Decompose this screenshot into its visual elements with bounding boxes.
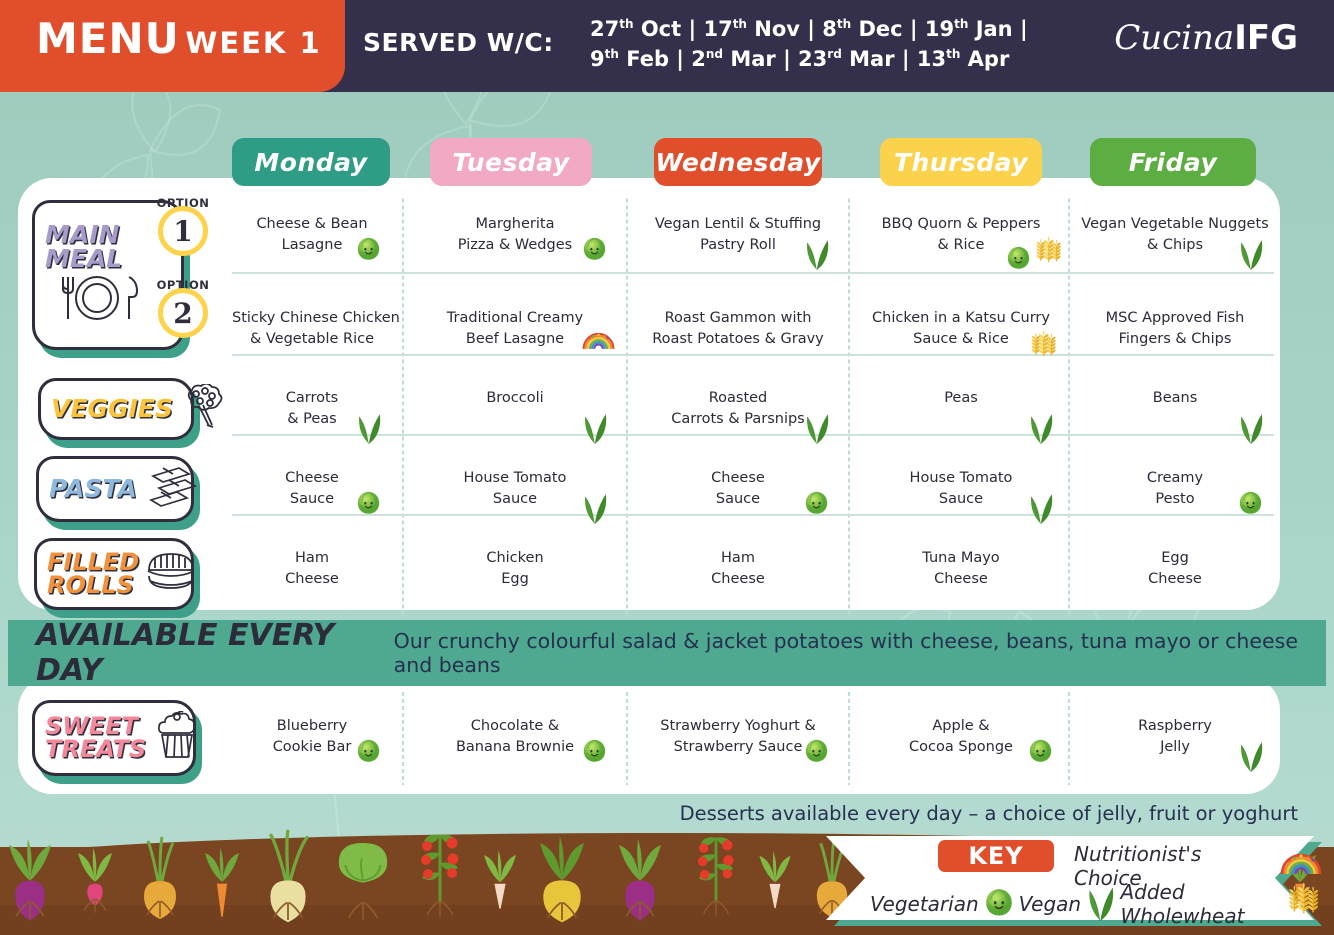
diet-icon-group [1238, 410, 1264, 448]
nutritionist-choice-rainbow-icon [1280, 850, 1322, 882]
vegetarian-cabbage-icon [1006, 245, 1031, 274]
option-number: 2 [158, 288, 208, 338]
bread-roll-icon [145, 550, 197, 598]
diet-icon-group [1028, 490, 1054, 528]
diet-icon-group [1238, 490, 1263, 519]
garden-plant [270, 830, 307, 922]
menu-item-text: Sticky Chinese Chicken [232, 308, 392, 329]
column-separator [626, 690, 628, 785]
menu-item-text: & Vegetable Rice [232, 329, 392, 350]
column-separator [848, 690, 850, 785]
day-header-friday: Friday [1090, 138, 1256, 186]
diet-icon-group [582, 236, 607, 265]
wholewheat-wheat-icon [1033, 236, 1064, 274]
pasta-icon [143, 464, 205, 514]
menu-item-text: House Tomato [858, 468, 1064, 489]
vegetarian-cabbage-icon [356, 236, 381, 265]
desserts-note: Desserts available every day – a choice … [680, 802, 1298, 825]
menu-cell-filled-rolls-wednesday: HamCheese [636, 548, 840, 589]
menu-item-text: Cheese [636, 569, 840, 590]
diet-icon-group [356, 490, 381, 519]
menu-item-text: Chicken [412, 548, 618, 569]
category-pill: VEGGIES [38, 378, 194, 440]
brand-name-bold: IFG [1234, 18, 1298, 58]
menu-item-text: Margherita [412, 214, 618, 235]
option-badge-1: OPTION1 [152, 196, 214, 258]
diet-icon-group [582, 410, 608, 448]
diet-icon-group [1238, 738, 1264, 776]
menu-cell-main-meal-option-2-wednesday: Roast Gammon withRoast Potatoes & Gravy [636, 308, 840, 349]
menu-cell-filled-rolls-tuesday: ChickenEgg [412, 548, 618, 589]
menu-item-text: Cheese [232, 468, 392, 489]
menu-item-text: Egg [1076, 548, 1274, 569]
menu-item-text: Traditional Creamy [412, 308, 618, 329]
vegan-leaf-icon [804, 410, 830, 448]
menu-item-text: Cheese & Bean [232, 214, 392, 235]
column-separator [402, 690, 404, 785]
menu-item-text: Blueberry [232, 716, 392, 737]
vegetarian-cabbage-icon [356, 490, 381, 519]
row-separator [232, 354, 1274, 356]
category-label: PASTA [49, 477, 137, 501]
served-dates-line-2: 9th Feb | 2nd Mar | 23rd Mar | 13th Apr [590, 44, 1030, 74]
option-number: 1 [158, 206, 208, 256]
diet-icon-group [804, 738, 829, 767]
menu-item-text: Broccoli [412, 388, 618, 409]
category-sweet-treats[interactable]: SWEETTREATS [32, 700, 196, 776]
vegetarian-cabbage-icon [1028, 738, 1053, 767]
column-separator [626, 196, 628, 614]
wholewheat-wheat-icon [1285, 882, 1323, 927]
week-word: WEEK 1 [185, 26, 321, 60]
menu-item-text: Cheese [1076, 569, 1274, 590]
day-header-label: Thursday [894, 148, 1028, 177]
vegetarian-cabbage-icon [582, 738, 607, 767]
key-label-vegan: Vegan [1019, 892, 1081, 916]
day-header-tuesday: Tuesday [430, 138, 592, 186]
garden-plant [698, 837, 734, 915]
menu-cell-filled-rolls-friday: EggCheese [1076, 548, 1274, 589]
category-pill: PASTA [36, 456, 194, 522]
garden-plant [339, 843, 387, 920]
menu-item-text: Roasted [636, 388, 840, 409]
band-title: AVAILABLE EVERY DAY [36, 618, 380, 688]
day-header-label: Monday [254, 148, 367, 177]
menu-item-text: Raspberry [1076, 716, 1274, 737]
category-label: MAINMEAL [45, 223, 122, 272]
diet-icon-group [1006, 236, 1064, 274]
vegan-leaf-icon [1028, 410, 1054, 448]
garden-plant [759, 851, 790, 908]
menu-item-text: Peas [858, 388, 1064, 409]
day-header-row: MondayTuesdayWednesdayThursdayFriday [0, 138, 1334, 186]
diet-icon-group [804, 410, 830, 448]
key-legend: KEY Nutritionist's Choice Vegetarian Veg… [826, 836, 1322, 926]
menu-cell-filled-rolls-monday: HamCheese [232, 548, 392, 589]
served-label: SERVED W/C: [363, 28, 554, 57]
row-separator [232, 514, 1274, 516]
garden-plant [205, 848, 239, 917]
diet-icon-group [804, 490, 829, 519]
menu-cell-veggies-friday: Beans [1076, 388, 1274, 409]
garden-plant [421, 835, 459, 917]
key-row-diet: Vegetarian Vegan Added Wholewheat [870, 880, 1322, 928]
menu-item-text: Tuna Mayo [858, 548, 1064, 569]
key-badge: KEY [938, 840, 1054, 872]
menu-title-block: MENU WEEK 1 [36, 14, 322, 63]
menu-item-text: Vegan Vegetable Nuggets [1076, 214, 1274, 235]
garden-plant [144, 837, 176, 919]
served-dates: 27th Oct | 17th Nov | 8th Dec | 19th Jan… [590, 14, 1030, 75]
menu-item-text: Ham [636, 548, 840, 569]
category-pill: SWEETTREATS [32, 700, 196, 776]
menu-cell-veggies-tuesday: Broccoli [412, 388, 618, 409]
diet-icon-group [356, 236, 381, 265]
option-badge-2: OPTION2 [152, 278, 214, 340]
day-header-label: Tuesday [452, 148, 569, 177]
menu-cell-main-meal-option-2-friday: MSC Approved FishFingers & Chips [1076, 308, 1274, 349]
vegan-leaf-icon [356, 410, 382, 448]
brand-name-italic: Cucina [1114, 18, 1234, 58]
menu-item-text: House Tomato [412, 468, 618, 489]
diet-icon-group [1028, 738, 1053, 767]
diet-icon-group [582, 738, 607, 767]
diet-icon-group [1238, 236, 1264, 274]
column-separator [1068, 196, 1070, 614]
row-separator [232, 272, 1274, 274]
menu-item-text: Apple & [858, 716, 1064, 737]
column-separator [848, 196, 850, 614]
key-label-wholewheat: Added Wholewheat [1120, 880, 1279, 928]
day-header-monday: Monday [232, 138, 390, 186]
diet-icon-group [356, 738, 381, 767]
menu-item-text: Beans [1076, 388, 1274, 409]
menu-item-text: Cheese [636, 468, 840, 489]
vegan-leaf-icon [1238, 236, 1264, 274]
broccoli-icon [179, 384, 225, 434]
column-separator [1068, 690, 1070, 785]
day-header-thursday: Thursday [880, 138, 1042, 186]
vegan-leaf-icon [1238, 410, 1264, 448]
vegan-leaf-icon [1086, 883, 1115, 925]
menu-cell-filled-rolls-thursday: Tuna MayoCheese [858, 548, 1064, 589]
menu-item-text: Roast Gammon with [636, 308, 840, 329]
band-text: Our crunchy colourful salad & jacket pot… [394, 629, 1326, 677]
menu-item-text: Chicken in a Katsu Curry [858, 308, 1064, 329]
vegetarian-cabbage-icon [804, 738, 829, 767]
menu-item-text: Chocolate & [412, 716, 618, 737]
vegan-leaf-icon [804, 236, 830, 274]
garden-plant [484, 850, 516, 909]
key-label-vegetarian: Vegetarian [870, 892, 979, 916]
menu-item-text: BBQ Quorn & Peppers [858, 214, 1064, 235]
menu-cell-main-meal-option-2-monday: Sticky Chinese Chicken& Vegetable Rice [232, 308, 392, 349]
menu-item-text: Ham [232, 548, 392, 569]
vegan-leaf-icon [1238, 738, 1264, 776]
nutritionist-choice-rainbow-icon [582, 330, 615, 356]
diet-icon-group [1028, 410, 1054, 448]
menu-item-text: Creamy [1076, 468, 1274, 489]
vegetarian-cabbage-icon [356, 738, 381, 767]
diet-icon-group [582, 490, 608, 528]
menu-word: MENU [36, 14, 180, 63]
menu-item-text: Cheese [858, 569, 1064, 590]
menu-item-text: Strawberry Yoghurt & [636, 716, 840, 737]
column-separator [402, 196, 404, 614]
menu-item-text: Vegan Lentil & Stuffing [636, 214, 840, 235]
garden-plant [540, 836, 584, 922]
vegetarian-cabbage-icon [582, 236, 607, 265]
brand-logo: CucinaIFG [1114, 18, 1298, 58]
menu-item-text: Roast Potatoes & Gravy [636, 329, 840, 350]
wholewheat-wheat-icon [1028, 330, 1059, 368]
category-veggies[interactable]: VEGGIES [38, 378, 194, 440]
vegan-leaf-icon [582, 410, 608, 448]
vegan-leaf-icon [582, 490, 608, 528]
day-header-label: Wednesday [655, 148, 820, 177]
category-label: VEGGIES [51, 397, 173, 421]
garden-plant [78, 848, 112, 913]
menu-item-text: Egg [412, 569, 618, 590]
vegetarian-cabbage-icon [984, 887, 1014, 921]
day-header-label: Friday [1129, 148, 1218, 177]
row-separator [232, 434, 1274, 436]
diet-icon-group [1028, 330, 1059, 368]
cutlery-plate-icon [45, 273, 149, 327]
cupcake-icon [152, 711, 202, 765]
diet-icon-group [356, 410, 382, 448]
day-header-wednesday: Wednesday [654, 138, 822, 186]
diet-icon-group [804, 236, 830, 274]
vegetarian-cabbage-icon [804, 490, 829, 519]
category-label: FILLEDROLLS [47, 551, 139, 598]
menu-cell-veggies-thursday: Peas [858, 388, 1064, 409]
vegan-leaf-icon [1028, 490, 1054, 528]
menu-item-text: MSC Approved Fish [1076, 308, 1274, 329]
served-dates-line-1: 27th Oct | 17th Nov | 8th Dec | 19th Jan… [590, 14, 1030, 44]
menu-item-text: Fingers & Chips [1076, 329, 1274, 350]
vegetarian-cabbage-icon [1238, 490, 1263, 519]
category-filled-rolls[interactable]: FILLEDROLLS [34, 538, 194, 610]
menu-item-text: Cheese [232, 569, 392, 590]
page-header: MENU WEEK 1 SERVED W/C: 27th Oct | 17th … [0, 0, 1334, 92]
category-pill: FILLEDROLLS [34, 538, 194, 610]
garden-plant [619, 839, 661, 921]
garden-plant [9, 839, 51, 921]
diet-icon-group [582, 330, 615, 356]
category-pasta[interactable]: PASTA [36, 456, 194, 522]
available-every-day-band: AVAILABLE EVERY DAY Our crunchy colourfu… [8, 620, 1326, 686]
menu-item-text: Carrots [232, 388, 392, 409]
category-label: SWEETTREATS [45, 715, 146, 762]
